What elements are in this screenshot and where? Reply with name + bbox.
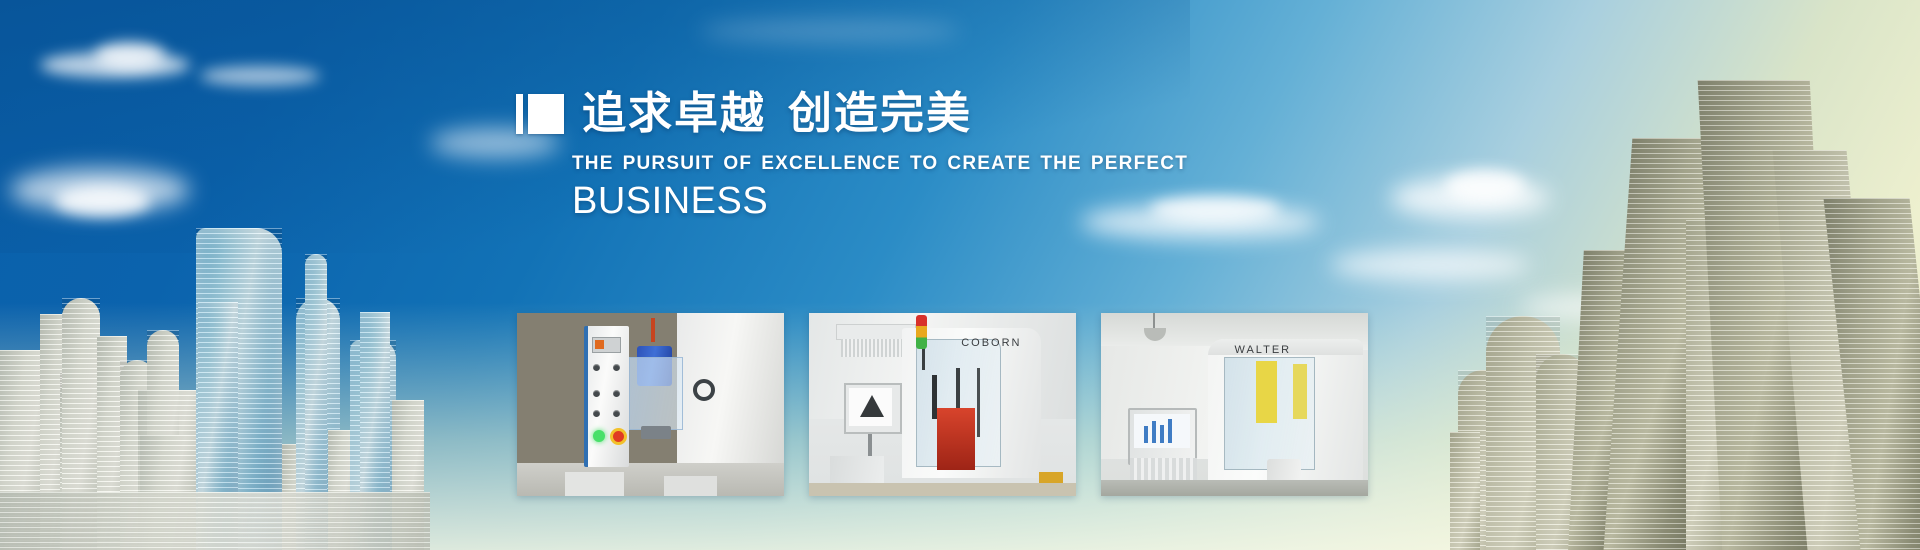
photo1-handwheel <box>693 379 715 401</box>
cloud-icon <box>700 20 960 42</box>
photo3-screen-bar <box>1152 421 1156 443</box>
tagline-word: THE <box>1040 153 1082 174</box>
title-row: 追求卓越创造完美 <box>516 92 1216 136</box>
photo2-red-fixture <box>937 408 974 470</box>
tagline-word: OF <box>723 153 752 174</box>
photo2-stack-light-pole <box>922 348 925 370</box>
title-cn-part1: 追求卓越 <box>582 88 766 139</box>
photo3-yellow-panel-2 <box>1293 364 1306 419</box>
page-title: 追求卓越创造完美 <box>582 92 972 136</box>
photo3-yellow-panel <box>1256 361 1277 423</box>
photo1-knob <box>613 390 620 397</box>
photo2-brand-label: COBORN <box>961 337 1021 349</box>
tagline-word: PURSUIT <box>623 153 715 174</box>
photo2-tool-arm-2 <box>956 368 960 408</box>
photo1-red-hook <box>651 318 655 342</box>
cloud-icon <box>95 42 165 68</box>
photo1-machine-base-2 <box>664 476 717 496</box>
photo3-screen-bar <box>1160 425 1164 443</box>
photo1-knob <box>593 390 600 397</box>
photo3-screen-bar <box>1168 419 1172 443</box>
tagline-word: CREATE <box>947 153 1031 174</box>
tagline-word: PERFECT <box>1091 153 1188 174</box>
photo-cnc-drilling-machine[interactable] <box>517 313 784 496</box>
hero-banner: 追求卓越创造完美 THEPURSUITOFEXCELLENCETOCREATET… <box>0 0 1920 550</box>
photo2-coolant-hose <box>977 368 980 438</box>
photo-coborn-grinding-machine[interactable]: COBORN <box>809 313 1076 496</box>
business-word: BUSINESS <box>572 181 1216 223</box>
headline-block: 追求卓越创造完美 THEPURSUITOFEXCELLENCETOCREATET… <box>516 92 1216 223</box>
cloud-icon <box>200 66 320 86</box>
tagline-word: EXCELLENCE <box>761 153 901 174</box>
photo2-stack-light-icon <box>916 315 927 349</box>
title-cn-part2: 创造完美 <box>788 88 972 139</box>
logo-square-shape <box>528 94 564 134</box>
photo-walter-tool-grinder[interactable]: WALTER <box>1101 313 1368 496</box>
photo-strip: COBORN WALTER <box>517 313 1368 496</box>
photo2-vent-grille <box>841 339 910 357</box>
photo3-floor <box>1101 480 1368 496</box>
photo1-glass-guard <box>629 357 682 430</box>
photo2-floor <box>809 483 1076 496</box>
photo3-keypad <box>1130 458 1197 482</box>
photo3-brand-label: WALTER <box>1235 344 1292 356</box>
cityscape-left <box>0 120 430 550</box>
photo1-tool-head <box>641 426 670 439</box>
logo-bar-shape <box>516 94 523 134</box>
photo2-tool-arm <box>932 375 937 419</box>
cityscape-right <box>1450 30 1920 550</box>
tagline-word: TO <box>910 153 938 174</box>
photo3-lamp-wire <box>1153 313 1155 329</box>
tagline-word: THE <box>572 153 614 174</box>
photo1-machine-base <box>565 472 624 496</box>
photo2-screen-graphic <box>860 395 884 417</box>
company-logo-mark-icon <box>516 94 564 134</box>
photo1-panel-display <box>592 337 621 353</box>
tagline: THEPURSUITOFEXCELLENCETOCREATETHEPERFECT <box>572 153 1216 175</box>
photo1-floor <box>517 463 784 496</box>
photo3-screen-bar <box>1144 426 1148 442</box>
